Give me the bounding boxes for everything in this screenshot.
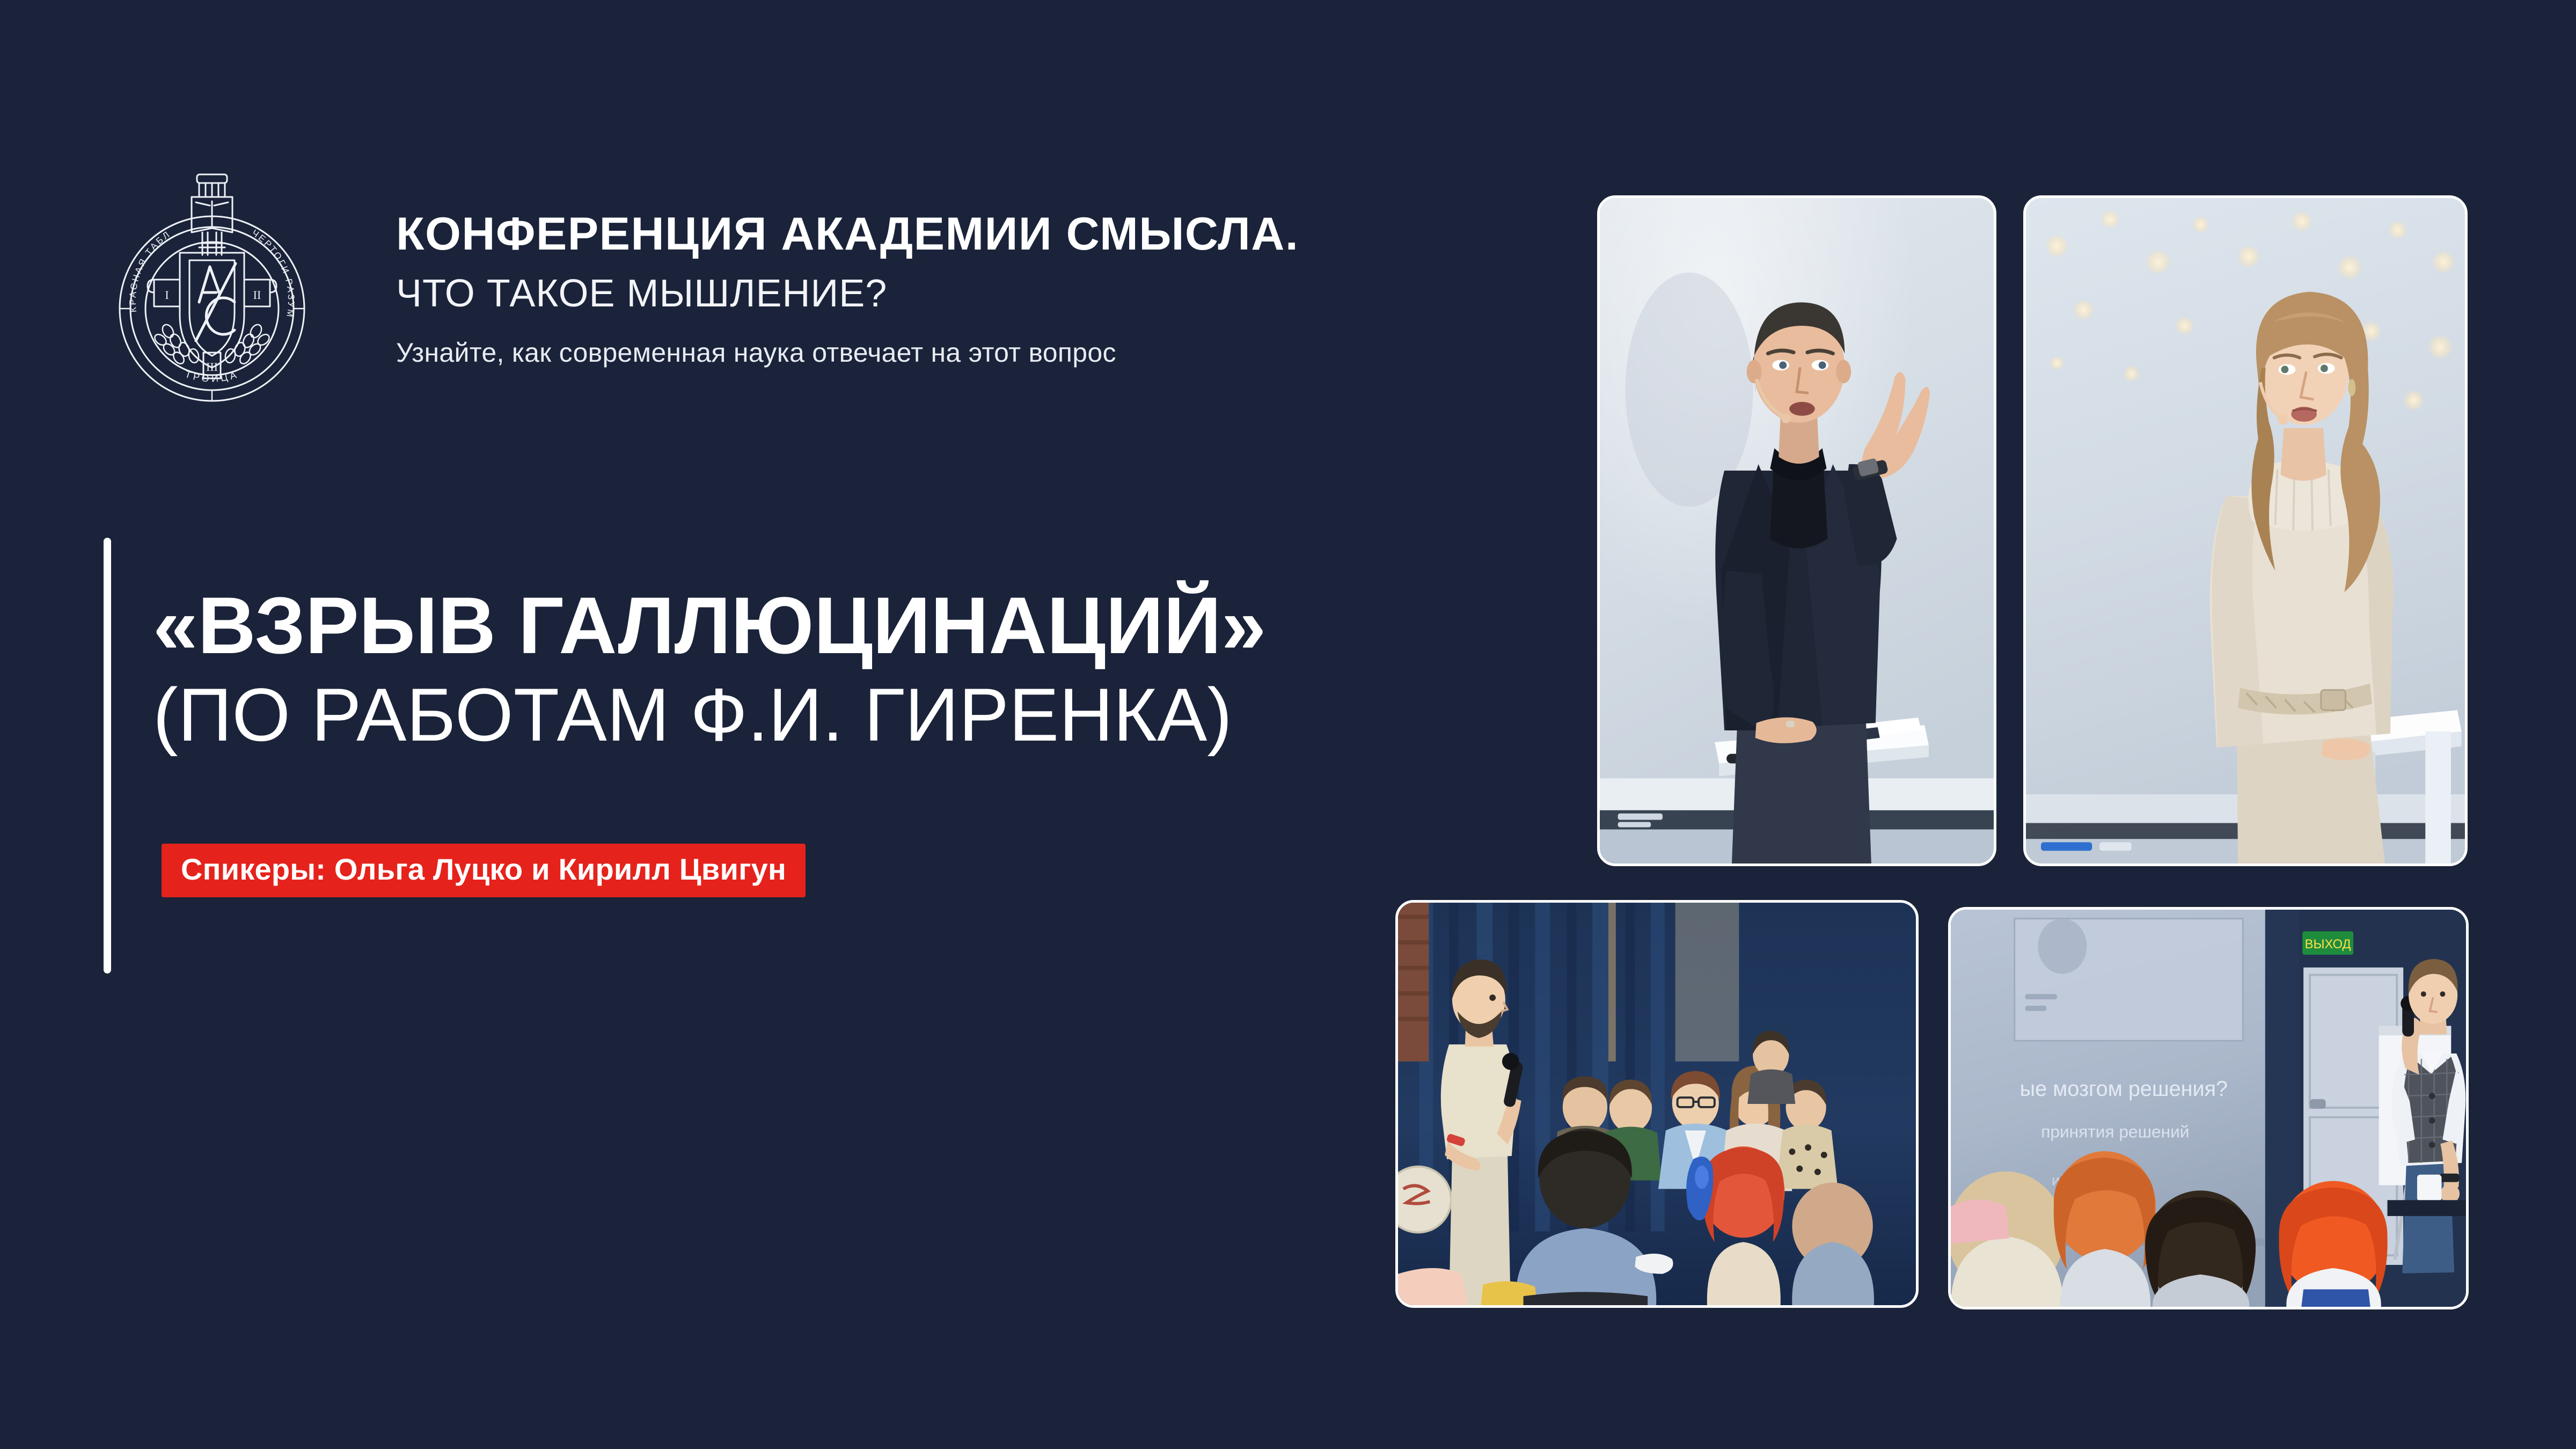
exit-sign-label: ВЫХОД <box>2305 937 2351 952</box>
logo-numeral-bottom: III <box>206 360 218 374</box>
logo-numeral-left: I <box>165 288 169 302</box>
headline-line-2: (ПО РАБОТАМ Ф.И. ГИРЕНКА) <box>153 677 1763 752</box>
conference-kicker-line-2: ЧТО ТАКОЕ МЫШЛЕНИЕ? <box>396 273 1577 315</box>
conference-kicker-line-1: КОНФЕРЕНЦИЯ АКАДЕМИИ СМЫСЛА. <box>396 209 1577 259</box>
page-title: «ВЗРЫВ ГАЛЛЮЦИНАЦИЙ» (ПО РАБОТАМ Ф.И. ГИ… <box>153 585 1763 752</box>
photo-presentation: ые мозгом решения? принятия решений ий В… <box>1948 907 2469 1309</box>
header-text-block: КОНФЕРЕНЦИЯ АКАДЕМИИ СМЫСЛА. ЧТО ТАКОЕ М… <box>396 209 1577 369</box>
logo-left-arc-text: КРАСНАЯ ТАБЛЕТКА <box>105 153 173 313</box>
photo-speaker-female <box>2023 195 2468 866</box>
headline-line-1: «ВЗРЫВ ГАЛЛЮЦИНАЦИЙ» <box>153 585 1763 665</box>
promo-banner: КРАСНАЯ ТАБЛЕТКА ЧЕРТОГИ РАЗУМА ТРОИЦА I… <box>0 0 2576 1449</box>
photo-audience-qa <box>1395 900 1919 1308</box>
speakers-badge: Спикеры: Ольга Луцко и Кирилл Цвигун <box>162 844 806 897</box>
slide-heading-line-1: ые мозгом решения? <box>2020 1077 2228 1101</box>
logo-numeral-right: II <box>253 288 261 302</box>
photo-speaker-male <box>1597 195 1996 866</box>
headline-accent-bar <box>104 538 111 974</box>
conference-subtitle: Узнайте, как современная наука отвечает … <box>396 336 1577 369</box>
academy-logo: КРАСНАЯ ТАБЛЕТКА ЧЕРТОГИ РАЗУМА ТРОИЦА I… <box>105 153 319 421</box>
slide-heading-line-2: принятия решений <box>2041 1122 2189 1141</box>
